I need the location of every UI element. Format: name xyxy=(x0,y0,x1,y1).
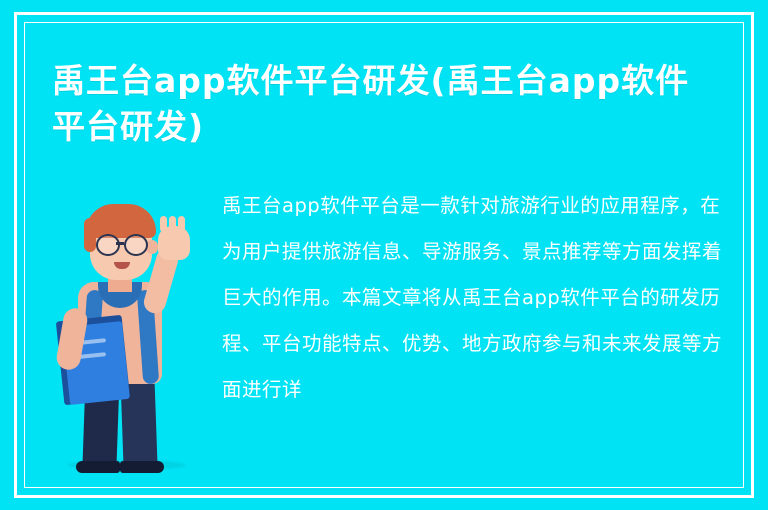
poster-body-text: 禹王台app软件平台是一款针对旅游行业的应用程序，在为用户提供旅游信息、导游服务… xyxy=(222,183,740,413)
hand-finger xyxy=(169,216,176,232)
hair-sideburn xyxy=(84,218,96,252)
hair xyxy=(86,204,156,238)
hand-finger xyxy=(160,216,167,232)
right-shoe xyxy=(120,461,164,473)
poster-image: 禹王台app软件平台研发(禹王台app软件 平台研发) 禹王台app软件平台是一… xyxy=(0,0,768,510)
poster-title: 禹王台app软件平台研发(禹王台app软件 平台研发) xyxy=(52,58,724,150)
glasses-right-lens xyxy=(124,234,148,256)
glasses-left-lens xyxy=(96,234,120,256)
left-shoe xyxy=(76,461,120,473)
hand-finger xyxy=(178,216,185,232)
glasses-bridge xyxy=(116,242,124,245)
illustration xyxy=(46,178,214,478)
